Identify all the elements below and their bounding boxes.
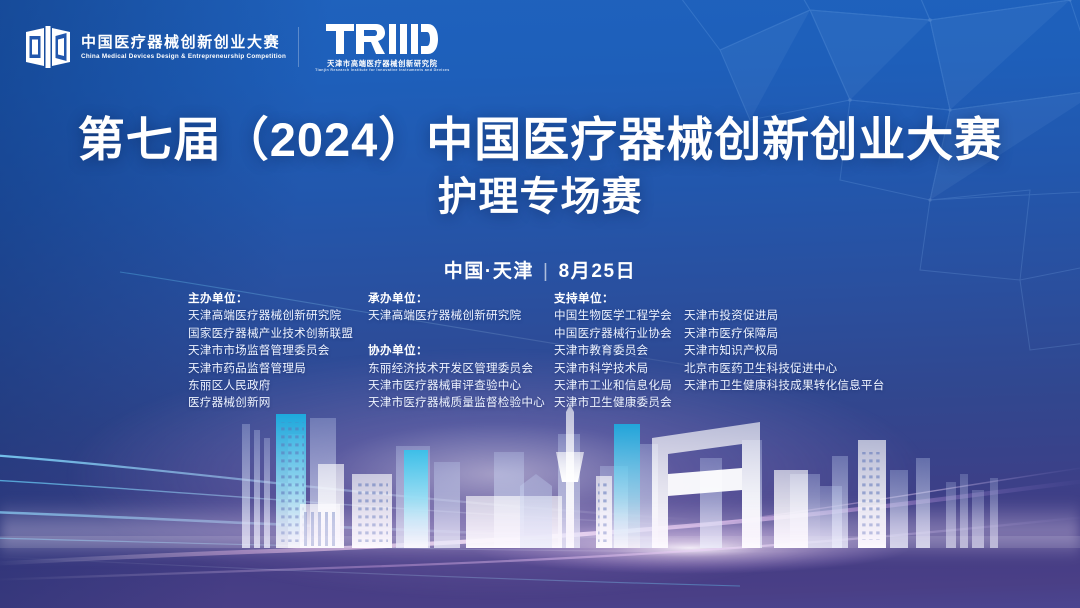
host-item: 天津市市场监督管理委员会: [188, 342, 368, 359]
supporter-item: 天津市工业和信息化局: [554, 377, 684, 394]
competition-logo: 中国医疗器械创新创业大赛 China Medical Devices Desig…: [24, 26, 282, 68]
event-date: 8月25日: [559, 261, 637, 282]
supporter-item: 中国医疗器械行业协会: [554, 325, 684, 342]
skyline-haze: [0, 500, 1080, 560]
co-organizer-item: 天津市医疗器械质量监督检验中心: [368, 394, 554, 411]
organizer-column: 承办单位： 天津高端医疗器械创新研究院 协办单位： 东丽经济技术开发区管理委员会…: [368, 290, 554, 412]
event-subtitle: 中国·天津|8月25日: [0, 256, 1080, 283]
host-item: 天津高端医疗器械创新研究院: [188, 307, 368, 324]
logo-divider: [298, 27, 299, 67]
co-organizer-item: 东丽经济技术开发区管理委员会: [368, 360, 554, 377]
co-organizer-item: 天津市医疗器械审评查验中心: [368, 377, 554, 394]
triid-logo-cn: 天津市高端医疗器械创新研究院: [327, 60, 437, 67]
supporter-item: 天津市知识产权局: [684, 342, 894, 359]
poster-canvas: 中国医疗器械创新创业大赛 China Medical Devices Desig…: [0, 0, 1080, 608]
subtitle-separator: |: [543, 261, 550, 283]
supporter-item: 天津市卫生健康委员会: [554, 394, 684, 411]
organizer-heading: 承办单位：: [368, 290, 554, 307]
supporter-item: 天津市投资促进局: [684, 307, 894, 324]
event-location: 中国·天津: [444, 261, 534, 282]
competition-logo-en: China Medical Devices Design & Entrepren…: [81, 54, 286, 60]
organizer-block: 主办单位： 天津高端医疗器械创新研究院 国家医疗器械产业技术创新联盟 天津市市场…: [188, 290, 894, 412]
supporters-column: 支持单位： 中国生物医学工程学会 中国医疗器械行业协会 天津市教育委员会 天津市…: [554, 290, 894, 412]
competition-logo-cn: 中国医疗器械创新创业大赛: [81, 35, 282, 50]
title-line-1: 第七届（2024）中国医疗器械创新创业大赛: [0, 112, 1080, 167]
co-organizer-heading: 协办单位：: [368, 342, 554, 359]
supporters-subcolumn-left: 支持单位： 中国生物医学工程学会 中国医疗器械行业协会 天津市教育委员会 天津市…: [554, 290, 684, 412]
supporter-item: 北京市医药卫生科技促进中心: [684, 360, 894, 377]
organizer-item: 天津高端医疗器械创新研究院: [368, 307, 554, 324]
poster-title: 第七届（2024）中国医疗器械创新创业大赛 护理专场赛: [0, 112, 1080, 221]
supporter-item: 中国生物医学工程学会: [554, 307, 684, 324]
supporter-item: 天津市医疗保障局: [684, 325, 894, 342]
supporter-item: 天津市教育委员会: [554, 342, 684, 359]
supporter-item: 天津市科学技术局: [554, 360, 684, 377]
supporter-item: 天津市卫生健康科技成果转化信息平台: [684, 377, 894, 394]
triid-logo-en: Tianjin Research Institute for Innovativ…: [315, 69, 450, 73]
host-item: 天津市药品监督管理局: [188, 360, 368, 377]
header-logos: 中国医疗器械创新创业大赛 China Medical Devices Desig…: [24, 22, 450, 73]
host-heading: 主办单位：: [188, 290, 368, 307]
column-spacer: [368, 325, 554, 342]
host-column: 主办单位： 天津高端医疗器械创新研究院 国家医疗器械产业技术创新联盟 天津市市场…: [188, 290, 368, 412]
supporters-heading: 支持单位：: [554, 290, 684, 307]
triid-logo: 天津市高端医疗器械创新研究院 Tianjin Research Institut…: [315, 22, 450, 73]
open-door-window-emblem-icon: [24, 26, 72, 68]
triid-wordmark-icon: [326, 22, 438, 56]
supporters-subcolumn-right: 天津市投资促进局 天津市医疗保障局 天津市知识产权局 北京市医药卫生科技促进中心…: [684, 290, 894, 412]
title-line-2: 护理专场赛: [0, 173, 1080, 221]
column-spacer: [684, 290, 894, 307]
host-item: 东丽区人民政府: [188, 377, 368, 394]
host-item: 国家医疗器械产业技术创新联盟: [188, 325, 368, 342]
host-item: 医疗器械创新网: [188, 394, 368, 411]
